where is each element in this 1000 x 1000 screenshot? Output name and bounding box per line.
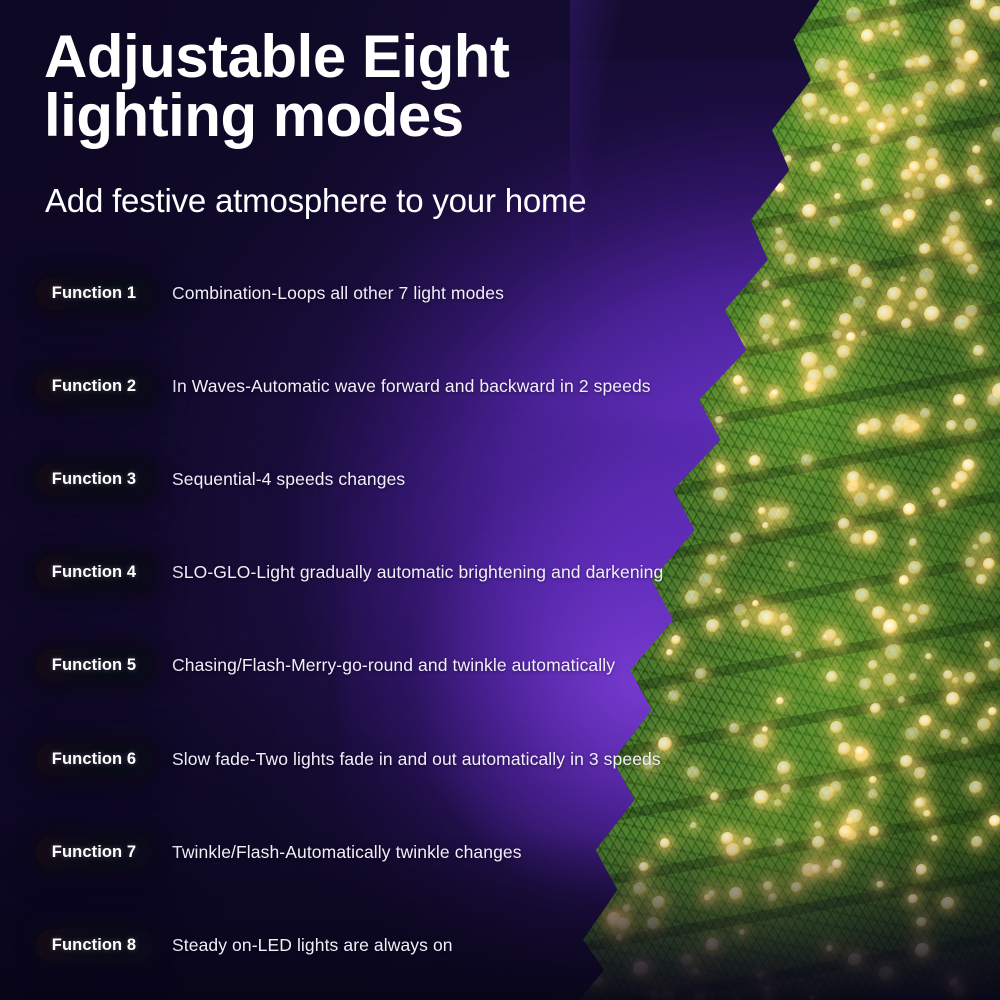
led-light — [768, 507, 782, 521]
function-description: Twinkle/Flash-Automatically twinkle chan… — [172, 842, 522, 863]
led-light — [964, 672, 976, 684]
led-light — [878, 22, 888, 32]
function-row: Function 4SLO-GLO-Light gradually automa… — [36, 556, 663, 590]
led-light — [716, 464, 726, 474]
led-light — [925, 653, 932, 660]
led-light — [774, 799, 782, 807]
led-light — [893, 30, 900, 37]
led-light — [924, 81, 939, 96]
led-light — [877, 489, 890, 502]
led-light — [919, 268, 935, 284]
function-row: Function 6Slow fade-Two lights fade in a… — [36, 742, 661, 776]
function-badge-label: Function 4 — [52, 563, 136, 582]
led-light — [964, 418, 977, 431]
led-light — [762, 334, 770, 342]
led-light — [781, 784, 790, 793]
function-row: Function 7Twinkle/Flash-Automatically tw… — [36, 835, 522, 869]
led-light — [885, 117, 897, 129]
led-light — [983, 558, 995, 570]
led-light — [949, 19, 965, 35]
led-light — [713, 487, 728, 502]
function-badge-label: Function 3 — [52, 470, 136, 489]
function-badge-7: Function 7 — [36, 836, 152, 869]
led-light — [856, 153, 871, 168]
led-light — [734, 604, 747, 617]
led-light — [908, 301, 918, 311]
led-light — [914, 767, 927, 780]
led-light — [909, 673, 917, 681]
led-light — [868, 73, 875, 80]
led-light — [823, 365, 838, 380]
led-light — [762, 280, 770, 288]
led-light — [908, 614, 918, 624]
led-light — [917, 173, 926, 182]
led-light — [706, 619, 720, 633]
led-light — [903, 209, 916, 222]
led-light — [772, 338, 780, 346]
led-light — [919, 243, 931, 255]
function-row: Function 8Steady on-LED lights are alway… — [36, 928, 453, 962]
function-badge-1: Function 1 — [36, 277, 152, 310]
led-light — [869, 776, 877, 784]
led-light — [924, 306, 940, 322]
function-row: Function 5Chasing/Flash-Merry-go-round a… — [36, 649, 615, 683]
function-badge-3: Function 3 — [36, 463, 152, 496]
led-light — [901, 318, 912, 329]
led-light — [938, 499, 946, 507]
led-light — [848, 809, 863, 824]
function-badge-label: Function 6 — [52, 750, 136, 769]
led-light — [776, 697, 784, 705]
led-light — [900, 276, 907, 283]
led-light — [801, 454, 813, 466]
led-light — [870, 134, 880, 144]
led-light — [925, 158, 939, 172]
led-light — [949, 211, 961, 223]
led-light — [932, 487, 941, 496]
function-description: In Waves-Automatic wave forward and back… — [172, 376, 651, 397]
led-light — [882, 104, 896, 118]
led-light — [857, 423, 870, 436]
function-description: Combination-Loops all other 7 light mode… — [172, 283, 504, 304]
function-description: Chasing/Flash-Merry-go-round and twinkle… — [172, 655, 615, 676]
led-light — [734, 339, 743, 348]
led-light — [892, 220, 900, 228]
led-light — [967, 264, 979, 276]
led-light — [870, 703, 881, 714]
function-list: Function 1Combination-Loops all other 7 … — [0, 0, 700, 1000]
led-light — [919, 715, 931, 727]
led-light — [741, 619, 750, 628]
led-light — [729, 723, 740, 734]
led-light — [838, 518, 850, 530]
led-light — [906, 136, 921, 151]
led-light — [880, 204, 893, 217]
led-light — [877, 305, 893, 321]
led-light — [775, 183, 785, 193]
led-light — [946, 420, 957, 431]
led-light — [832, 143, 841, 152]
led-light — [706, 554, 718, 566]
led-light — [985, 199, 992, 206]
led-light — [846, 7, 862, 23]
led-light — [902, 603, 912, 613]
led-light — [733, 375, 743, 385]
led-light — [856, 106, 864, 114]
led-light — [788, 561, 795, 568]
led-light — [802, 93, 817, 108]
led-light — [909, 538, 917, 546]
led-light — [826, 671, 838, 683]
led-light — [829, 216, 841, 228]
led-light — [850, 533, 862, 545]
function-description: SLO-GLO-Light gradually automatic bright… — [172, 562, 663, 583]
function-badge-8: Function 8 — [36, 929, 152, 962]
led-light — [832, 330, 842, 340]
led-light — [801, 352, 817, 368]
led-light — [804, 112, 813, 121]
led-light — [918, 55, 931, 68]
led-light — [789, 319, 801, 331]
led-light — [976, 574, 987, 585]
led-light — [885, 644, 901, 660]
led-light — [915, 287, 928, 300]
led-light — [834, 193, 841, 200]
led-light — [953, 394, 965, 406]
led-light — [942, 236, 950, 244]
led-light — [989, 6, 1000, 22]
led-light — [762, 522, 768, 528]
led-light — [904, 192, 911, 199]
led-light — [762, 726, 769, 733]
led-light — [872, 606, 886, 620]
led-light — [758, 610, 774, 626]
led-light — [777, 761, 791, 775]
function-badge-6: Function 6 — [36, 743, 152, 776]
led-light — [868, 789, 878, 799]
led-light — [775, 240, 788, 253]
led-light — [740, 386, 748, 394]
function-badge-label: Function 1 — [52, 284, 136, 303]
led-light — [955, 471, 968, 484]
led-light — [923, 810, 930, 817]
led-light — [844, 82, 860, 98]
led-light — [876, 122, 886, 132]
led-light — [977, 718, 991, 732]
led-light — [808, 257, 822, 271]
function-badge-2: Function 2 — [36, 370, 152, 403]
led-light — [946, 692, 960, 706]
led-light — [854, 492, 869, 507]
function-description: Steady on-LED lights are always on — [172, 935, 453, 956]
led-light — [905, 59, 914, 68]
led-light — [868, 660, 878, 670]
led-light — [837, 345, 851, 359]
led-light — [853, 296, 867, 310]
led-light — [753, 734, 768, 749]
led-light — [909, 161, 920, 172]
led-light — [861, 178, 875, 192]
function-badge-4: Function 4 — [36, 556, 152, 589]
led-light — [754, 790, 769, 805]
led-light — [965, 557, 976, 568]
led-light — [972, 544, 979, 551]
led-light — [759, 314, 775, 330]
led-light — [988, 658, 1000, 672]
function-badge-label: Function 8 — [52, 936, 136, 955]
led-light — [961, 737, 969, 745]
led-light — [834, 638, 842, 646]
function-badge-label: Function 5 — [52, 656, 136, 675]
led-light — [899, 575, 909, 585]
led-light — [969, 781, 983, 795]
led-light — [973, 345, 984, 356]
led-light — [989, 815, 1000, 827]
led-light — [710, 792, 719, 801]
led-light — [987, 393, 1000, 407]
led-light — [819, 786, 835, 802]
function-description: Sequential-4 speeds changes — [172, 469, 405, 490]
led-light — [802, 204, 817, 219]
led-light — [838, 60, 848, 70]
function-row: Function 1Combination-Loops all other 7 … — [36, 276, 504, 310]
function-badge-label: Function 7 — [52, 843, 136, 862]
led-light — [771, 389, 779, 397]
function-row: Function 3Sequential-4 speeds changes — [36, 462, 405, 496]
led-light — [912, 187, 926, 201]
led-light — [838, 742, 851, 755]
led-light — [855, 746, 865, 756]
function-badge-label: Function 2 — [52, 377, 136, 396]
led-light — [908, 561, 922, 575]
function-badge-5: Function 5 — [36, 649, 152, 682]
led-light — [861, 29, 875, 43]
led-light — [807, 369, 823, 385]
function-description: Slow fade-Two lights fade in and out aut… — [172, 749, 661, 770]
led-light — [945, 83, 959, 97]
promo-banner: Adjustable Eight lighting modes Add fest… — [0, 0, 1000, 1000]
function-row: Function 2In Waves-Automatic wave forwar… — [36, 369, 651, 403]
led-light — [915, 114, 928, 127]
led-light — [898, 696, 905, 703]
led-light — [720, 555, 727, 562]
led-light — [920, 408, 931, 419]
led-light — [984, 641, 991, 648]
